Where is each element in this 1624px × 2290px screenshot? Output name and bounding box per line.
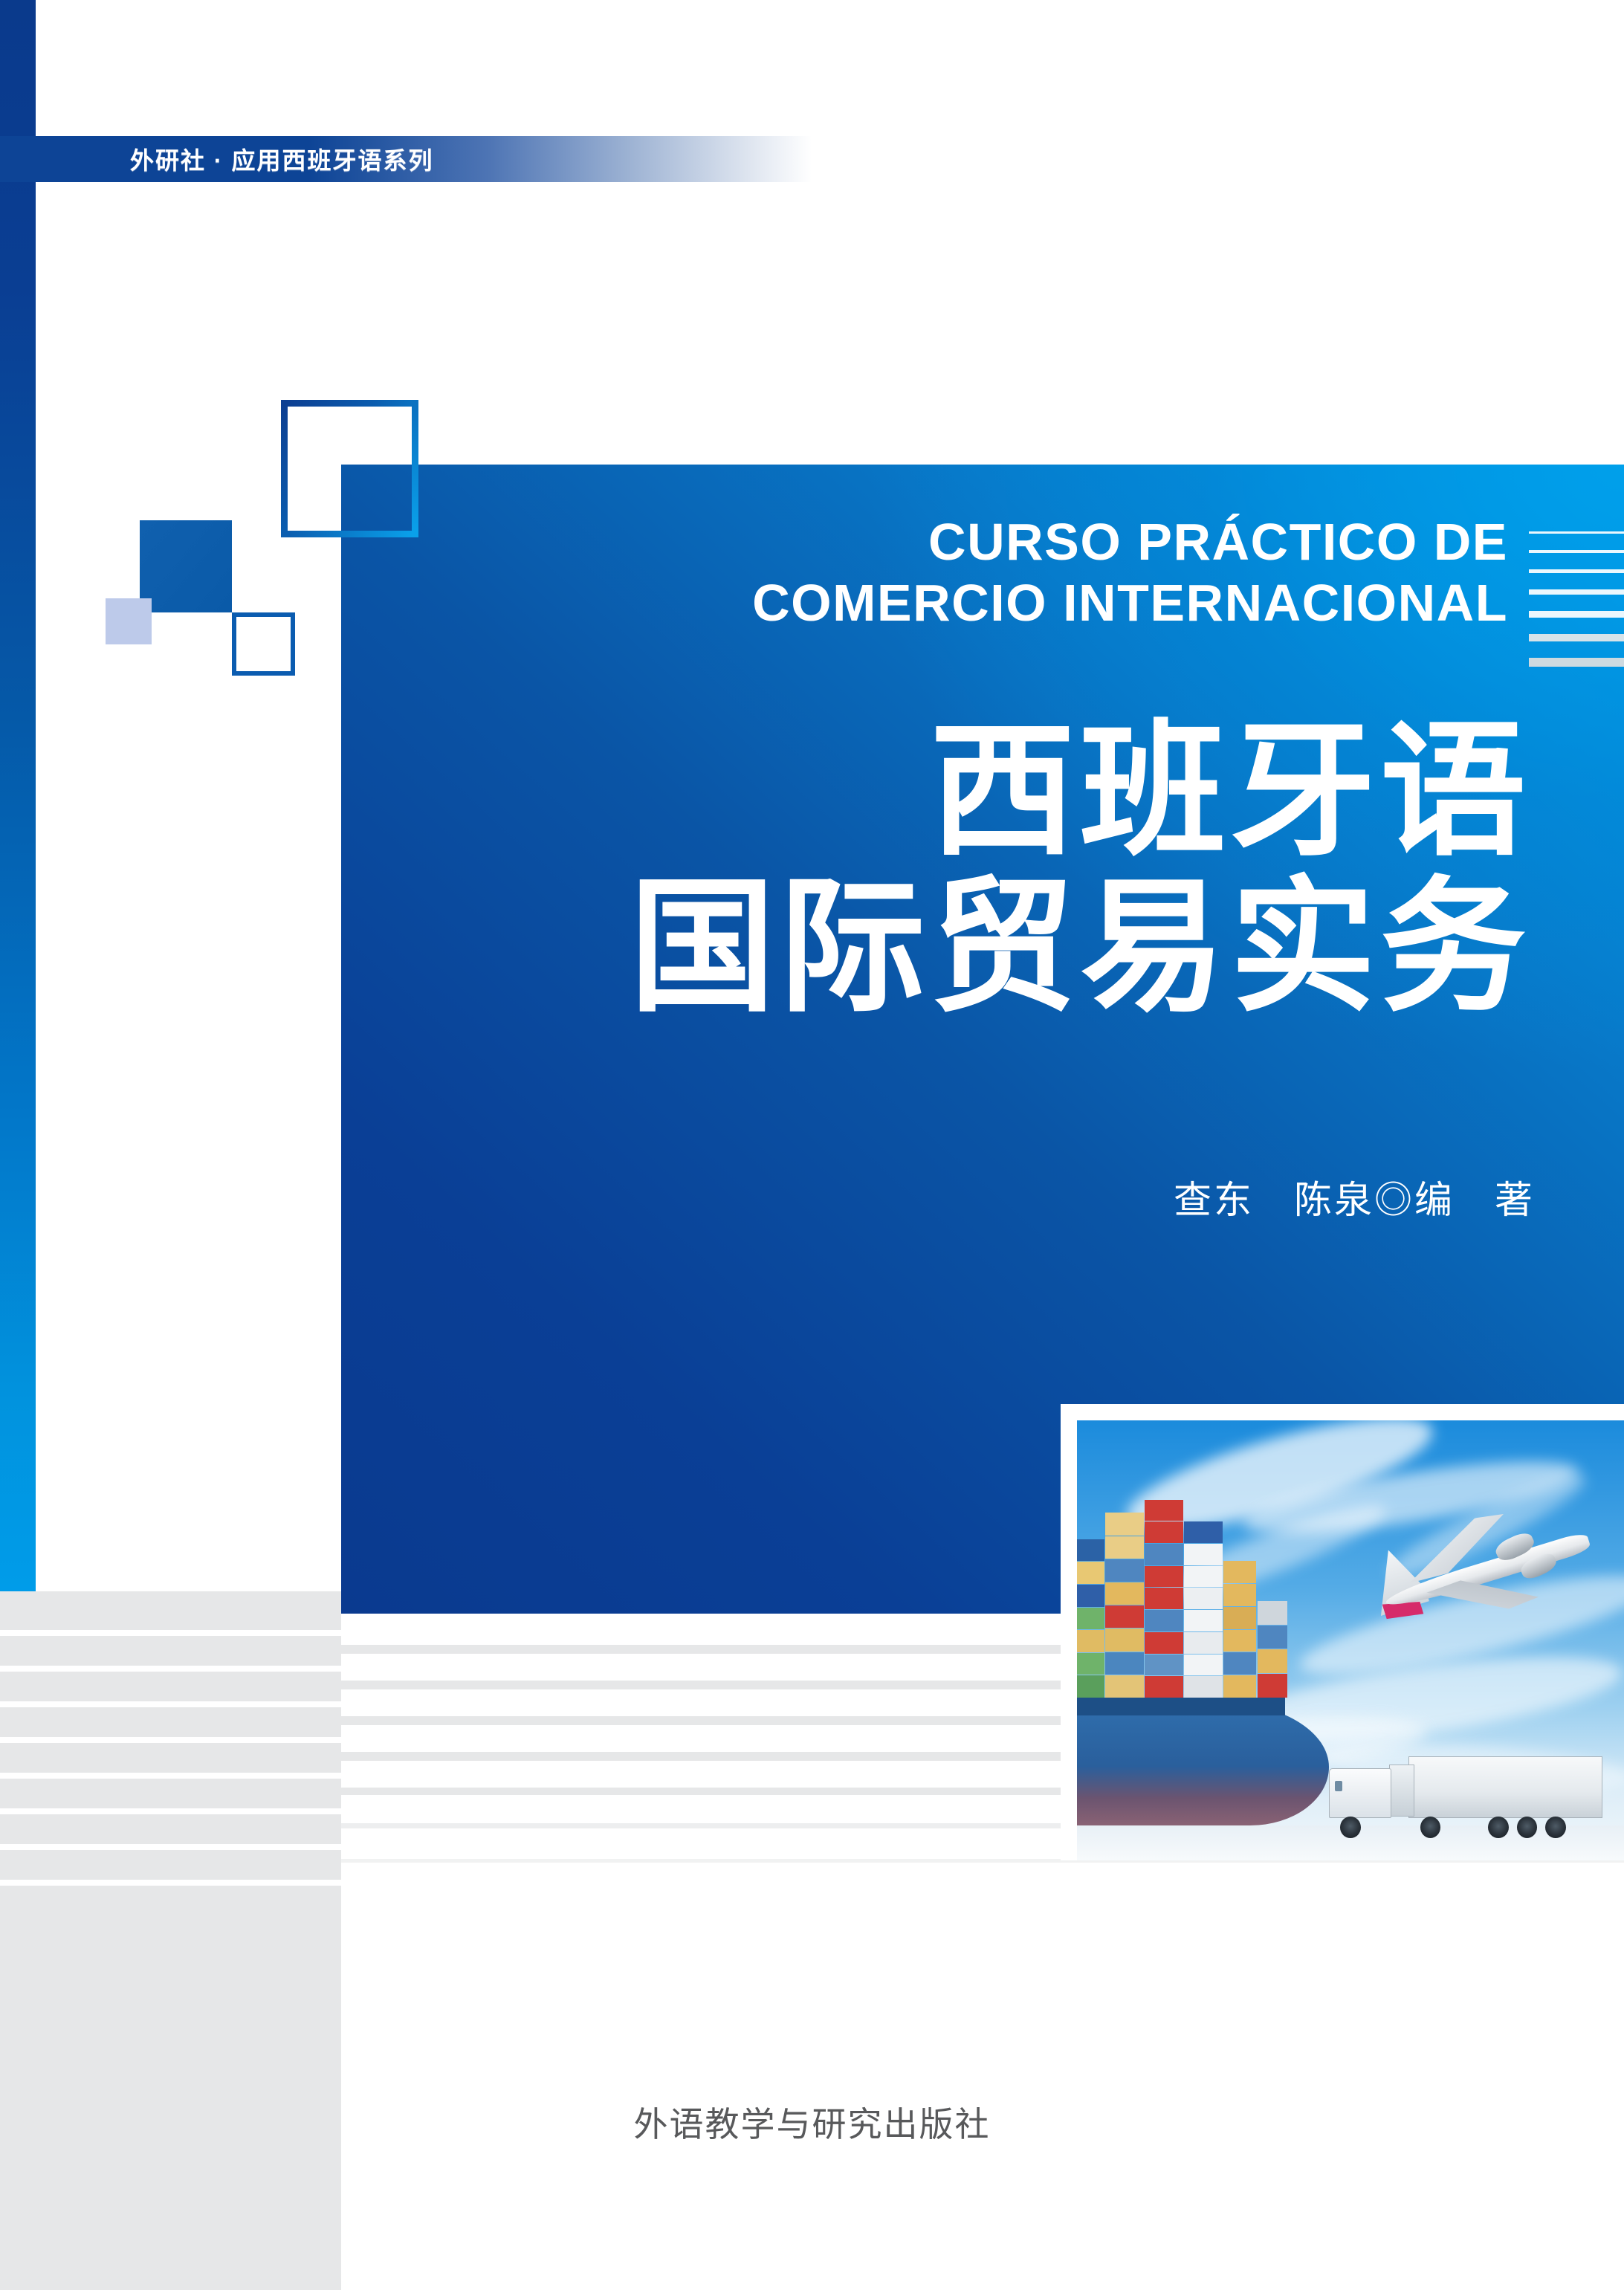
spanish-title: CURSO PRÁCTICO DE COMERCIO INTERNACIONAL bbox=[341, 513, 1508, 633]
container-ship-deck bbox=[1077, 1698, 1285, 1715]
author-line: 查东 陈泉◎编 著 bbox=[1174, 1169, 1535, 1224]
band-stripe bbox=[0, 1666, 341, 1672]
band-stripe bbox=[0, 1737, 341, 1743]
spanish-title-line-1: CURSO PRÁCTICO DE bbox=[341, 513, 1508, 571]
truck-windshield bbox=[1335, 1781, 1343, 1791]
logistics-photo bbox=[1077, 1420, 1624, 1860]
container-stack bbox=[1105, 1513, 1144, 1698]
band-stripe bbox=[0, 1630, 341, 1636]
container-stack bbox=[1184, 1521, 1223, 1698]
decor-rule bbox=[1529, 658, 1624, 667]
band-stripe bbox=[0, 1701, 341, 1707]
band-stripe bbox=[0, 1773, 341, 1779]
book-cover: 外研社 · 应用西班牙语系列 CURSO PRÁCTICO DE COMERCI… bbox=[0, 0, 1624, 2290]
truck-wheel bbox=[1420, 1817, 1441, 1838]
chinese-title-line-1: 西班牙语 bbox=[341, 714, 1530, 870]
cover-photo-frame bbox=[1061, 1404, 1624, 1860]
band-stripe bbox=[0, 1844, 341, 1850]
decor-rule bbox=[1529, 634, 1624, 641]
decor-square-outline-small bbox=[232, 612, 295, 676]
truck-wheel bbox=[1517, 1817, 1538, 1838]
bottom-left-gray-block bbox=[0, 1591, 341, 2290]
container-stack bbox=[1145, 1500, 1183, 1698]
spanish-title-line-2: COMERCIO INTERNACIONAL bbox=[341, 574, 1508, 632]
cargo-truck bbox=[1318, 1755, 1602, 1838]
truck-cab bbox=[1329, 1768, 1391, 1818]
chinese-title: 西班牙语 国际贸易实务 bbox=[341, 714, 1530, 1025]
decor-rule bbox=[1529, 589, 1624, 595]
decor-square-pale-blue bbox=[106, 598, 152, 644]
band-stripe bbox=[0, 1880, 341, 1886]
container-stack bbox=[1258, 1601, 1287, 1698]
publisher-name: 外语教学与研究出版社 bbox=[0, 2097, 1624, 2147]
decor-rule-stack bbox=[1529, 531, 1624, 667]
decor-rule bbox=[1529, 569, 1624, 573]
decor-rule bbox=[1529, 531, 1624, 534]
container-ship-hull bbox=[1077, 1702, 1329, 1825]
left-gradient-spine bbox=[0, 0, 36, 1591]
truck-wheel bbox=[1340, 1817, 1361, 1838]
chinese-title-line-2: 国际贸易实务 bbox=[341, 870, 1530, 1026]
truck-wheel bbox=[1488, 1817, 1509, 1838]
truck-wheel bbox=[1545, 1817, 1566, 1838]
truck-trailer bbox=[1408, 1756, 1602, 1818]
decor-square-solid-medium bbox=[140, 520, 232, 612]
band-stripe bbox=[0, 1808, 341, 1814]
decor-rule bbox=[1529, 611, 1624, 618]
decor-rule bbox=[1529, 550, 1624, 553]
series-banner: 外研社 · 应用西班牙语系列 bbox=[0, 136, 812, 182]
container-stack bbox=[1223, 1561, 1256, 1698]
truck-midsection bbox=[1389, 1765, 1414, 1817]
series-banner-label: 外研社 · 应用西班牙语系列 bbox=[130, 142, 433, 176]
container-stack bbox=[1077, 1539, 1104, 1698]
